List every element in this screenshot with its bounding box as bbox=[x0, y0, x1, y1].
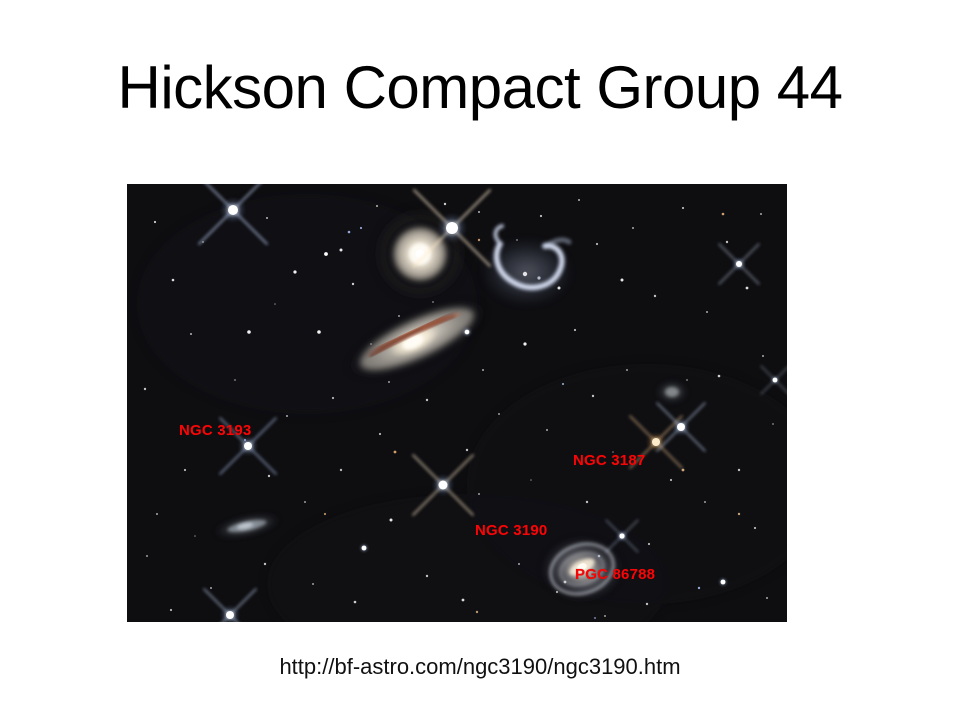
label-ngc-3190: NGC 3190 bbox=[475, 522, 547, 539]
page-title: Hickson Compact Group 44 bbox=[0, 52, 960, 124]
galaxy-pgc-86788 bbox=[656, 381, 688, 403]
label-ngc-3193: NGC 3193 bbox=[179, 422, 251, 439]
galaxy-ngc-3187 bbox=[481, 226, 573, 306]
label-pgc-86788: PGC 86788 bbox=[575, 566, 655, 583]
sky-field-image bbox=[127, 184, 787, 622]
presentation-slide: Hickson Compact Group 44 bbox=[0, 0, 960, 720]
astronomy-photo: NGC 3193 NGC 3187 NGC 3190 PGC 86788 PGC… bbox=[127, 184, 787, 622]
source-url-caption: http://bf-astro.com/ngc3190/ngc3190.htm bbox=[0, 652, 960, 682]
label-ngc-3187: NGC 3187 bbox=[573, 452, 645, 469]
